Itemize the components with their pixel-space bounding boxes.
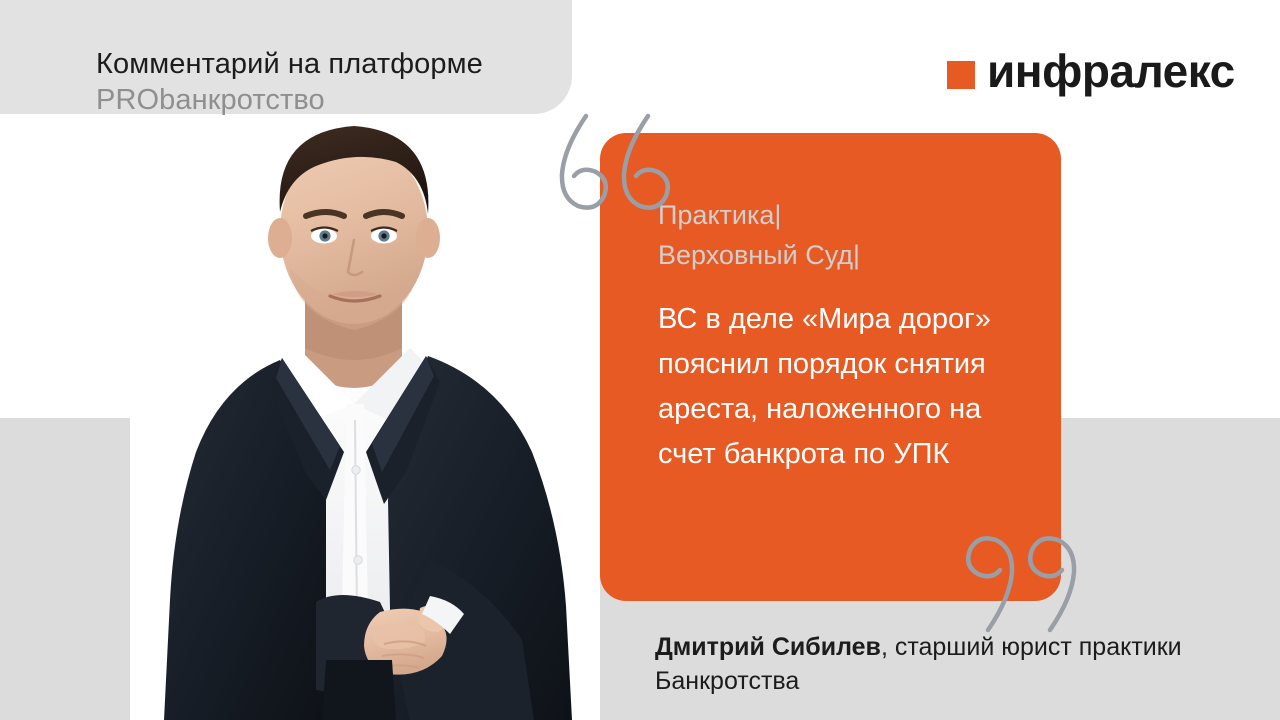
header-subtitle: PRObанкротство [96,82,596,118]
attribution: Дмитрий Сибилев, старший юрист практики … [655,630,1215,698]
quote-card: Практика| Верховный Суд| ВС в деле «Мира… [600,133,1061,601]
header-title: Комментарий на платформе [96,46,596,82]
brand-logo: инфралекс [947,48,1235,94]
kicker-line-court: Верховный Суд| [658,235,1038,275]
header-text: Комментарий на платформе PRObанкротство [96,46,596,118]
orange-square-icon [947,61,975,89]
quote-card-content: Практика| Верховный Суд| ВС в деле «Мира… [658,195,1038,477]
slide-canvas: Практика| Верховный Суд| ВС в деле «Мира… [0,0,1280,720]
kicker-line-practice: Практика| [658,195,1038,235]
author-name: Дмитрий Сибилев [655,633,881,661]
quote-headline: ВС в деле «Мира дорог» пояснил порядок с… [658,297,1038,477]
brand-name: инфралекс [987,48,1235,94]
quote-kicker: Практика| Верховный Суд| [658,195,1038,275]
